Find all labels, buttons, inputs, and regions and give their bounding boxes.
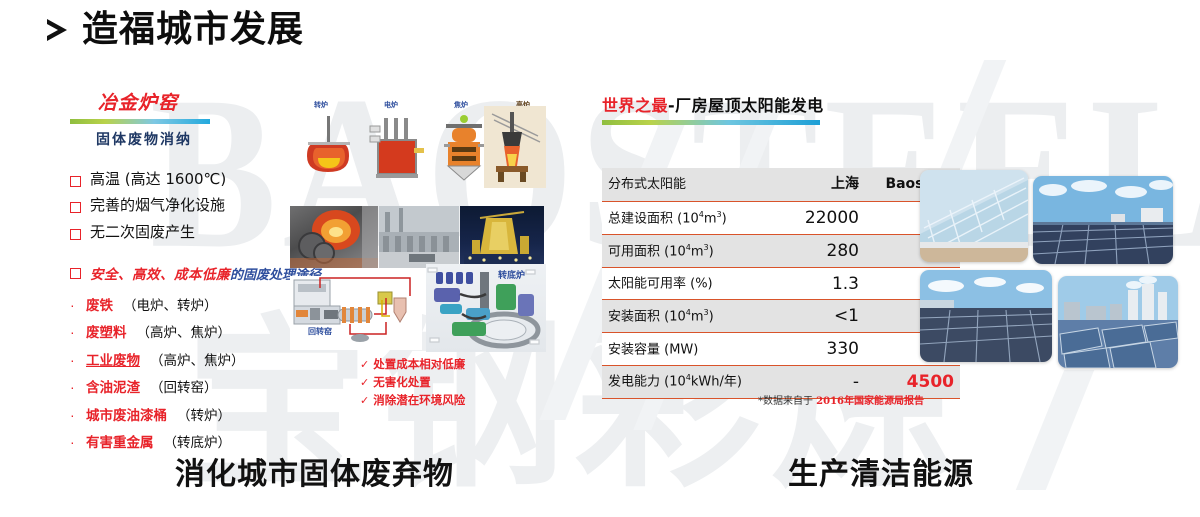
list-item: ✓ 无害化处置 (360, 374, 465, 390)
waste-furnace: （电炉、转炉） (123, 294, 218, 314)
row-label: 总建设面积 (104m3) (602, 202, 770, 235)
waste-name: 城市废油漆桶 (86, 404, 167, 424)
photo-solar-array-closeup (920, 170, 1028, 262)
square-bullet-icon (70, 202, 81, 213)
row-label: 可用面积 (104m3) (602, 235, 770, 268)
table-row: 总建设面积 (104m3) 22000 300 (602, 202, 960, 235)
photo-solar-plant-panels (1058, 276, 1178, 368)
watermark-streak (936, 60, 1006, 180)
dot-bullet-icon: · (70, 380, 76, 394)
page-title: 造福城市发展 (82, 12, 304, 48)
diagram-rotary-hearth: 转底炉 (426, 264, 546, 352)
table-header-row: 分布式太阳能 上海 Baosteel (602, 168, 960, 202)
square-bullet-icon (70, 229, 81, 240)
cell-shanghai: <1 (770, 300, 865, 333)
dot-bullet-icon: · (70, 325, 76, 339)
figure-label-rotary-kiln: 回转窑 (308, 326, 332, 337)
photo-plant-exterior (379, 206, 459, 268)
furnace-label-electric: 电炉 (384, 100, 398, 110)
waste-name: 废塑料 (86, 321, 127, 341)
photo-rooftop-panels-wide (1033, 176, 1173, 264)
photo-rooftop-panels-flat (920, 270, 1052, 362)
table-row: 太阳能可用率 (%) 1.3 45 (602, 267, 960, 300)
solar-photo-collage (920, 170, 1195, 398)
right-heading-red: 世界之最 (602, 96, 668, 115)
furnace-label-converter: 转炉 (314, 100, 328, 110)
table-footnote: *数据来自于 2016年国家能源局报告 (602, 392, 924, 407)
waste-furnace: （转炉） (177, 404, 231, 424)
list-item: ✓ 消除潜在环境风险 (360, 392, 465, 408)
waste-furnace: （回转窑） (150, 376, 218, 396)
dot-bullet-icon: · (70, 408, 76, 422)
waste-furnace: （高炉、焦炉） (137, 321, 232, 341)
check-icon: ✓ (360, 394, 369, 407)
row-label: 太阳能可用率 (%) (602, 267, 770, 300)
photo-plant-exterior-art (379, 206, 459, 268)
slide-canvas: BAOSTEEL 宝钢彩炼 造福城市发展 冶金炉窑 固体废物消纳 高温 (高达 … (0, 0, 1200, 517)
waste-name: 废铁 (86, 294, 113, 314)
photo-furnace-interior (290, 206, 378, 268)
photo-furnace-interior-art (290, 206, 378, 268)
solar-comparison-table: 分布式太阳能 上海 Baosteel 总建设面积 (104m3) 22000 3… (602, 168, 960, 399)
waste-name: 工业废物 (86, 349, 140, 369)
check-icon: ✓ (360, 358, 369, 371)
photo-blast-furnace-night (460, 206, 544, 268)
table-row: 安装面积 (104m3) <1 90 (602, 300, 960, 333)
table-row: 安装容量 (MW) 330 90 (602, 333, 960, 366)
check-label: 消除潜在环境风险 (373, 392, 465, 408)
dot-bullet-icon: · (70, 298, 76, 312)
blast-furnace-icon (484, 106, 546, 188)
waste-name: 有害重金属 (86, 431, 154, 451)
caption-right: 生产清洁能源 (788, 449, 974, 493)
triangle-right-icon (44, 15, 70, 45)
furnace-label-coke-oven: 焦炉 (454, 100, 468, 110)
row-label: 安装容量 (MW) (602, 333, 770, 366)
photo-blast-furnace-night-art (460, 206, 544, 268)
cell-shanghai: 22000 (770, 202, 865, 235)
coke-oven-icon (438, 114, 490, 190)
bullet-label: 无二次固废产生 (90, 224, 195, 241)
list-item: · 城市废油漆桶 （转炉） (70, 404, 590, 424)
square-bullet-icon (70, 268, 81, 279)
benefit-check-list: ✓ 处置成本相对低廉 ✓ 无害化处置 ✓ 消除潜在环境风险 (360, 356, 465, 410)
cell-shanghai: 330 (770, 333, 865, 366)
waste-name: 含油泥渣 (86, 376, 140, 396)
right-gradient-bar (602, 120, 820, 125)
cell-shanghai: 280 (770, 235, 865, 268)
left-gradient-bar (70, 119, 210, 124)
photo-rooftop-panels-wide-art (1033, 176, 1173, 264)
right-heading-black: -厂房屋顶太阳能发电 (668, 96, 824, 115)
dot-bullet-icon: · (70, 353, 76, 367)
column-header-category: 分布式太阳能 (602, 168, 770, 202)
column-header-shanghai: 上海 (770, 168, 865, 202)
figure-label-rotary-hearth: 转底炉 (498, 268, 525, 281)
bullet-label: 高温 (高达 1600℃) (90, 171, 226, 188)
caption-left: 消化城市固体废弃物 (175, 449, 454, 493)
check-label: 无害化处置 (373, 374, 431, 390)
photo-solar-plant-panels-art (1058, 276, 1178, 368)
footnote-prefix: *数据来自于 (758, 396, 816, 407)
electric-furnace-icon (366, 114, 428, 190)
photo-solar-array-closeup-art (920, 170, 1028, 262)
converter-furnace-icon (302, 114, 356, 188)
highlight-red-text: 安全、高效、成本低廉 (90, 267, 230, 282)
diagram-rotary-kiln: 回转窑 (290, 276, 422, 350)
footnote-emphasis: 2016年国家能源局报告 (816, 396, 924, 407)
diagram-rotary-hearth-art (426, 264, 546, 352)
bullet-label: 完善的烟气净化设施 (90, 197, 225, 214)
right-panel: 世界之最-厂房屋顶太阳能发电 (602, 92, 932, 125)
dot-bullet-icon: · (70, 435, 76, 449)
furnace-diagram-row: 转炉 电炉 焦炉 (288, 100, 546, 198)
slide-title-row: 造福城市发展 (44, 12, 304, 48)
photo-rooftop-panels-flat-art (920, 270, 1052, 362)
metallurgy-figure-collage: 转炉 电炉 焦炉 (288, 100, 546, 395)
square-bullet-icon (70, 176, 81, 187)
check-label: 处置成本相对低廉 (373, 356, 465, 372)
check-icon: ✓ (360, 376, 369, 389)
right-panel-header: 世界之最-厂房屋顶太阳能发电 (602, 92, 932, 116)
list-item: ✓ 处置成本相对低廉 (360, 356, 465, 372)
table-row: 可用面积 (104m3) 280 136 (602, 235, 960, 268)
cell-shanghai: 1.3 (770, 267, 865, 300)
row-label: 安装面积 (104m3) (602, 300, 770, 333)
diagram-rotary-kiln-art (290, 276, 422, 350)
waste-furnace: （高炉、焦炉） (150, 349, 245, 369)
